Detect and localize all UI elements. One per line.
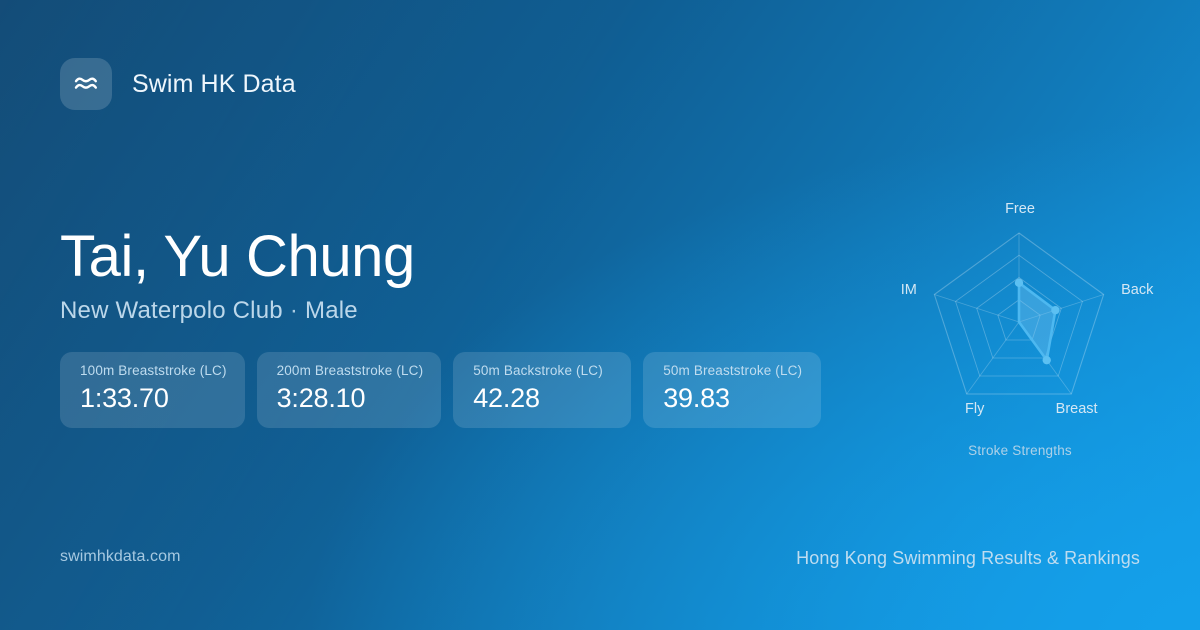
radar-axis-label-im: IM	[870, 282, 917, 298]
athlete-club: New Waterpolo Club	[60, 297, 283, 324]
stat-card-label: 50m Breaststroke (LC)	[663, 363, 803, 378]
stat-card-value: 39.83	[663, 383, 803, 414]
stat-card-label: 50m Backstroke (LC)	[473, 363, 613, 378]
stat-card-label: 100m Breaststroke (LC)	[80, 363, 227, 378]
athlete-gender: Male	[305, 297, 358, 324]
stat-card[interactable]: 50m Breaststroke (LC) 39.83	[643, 352, 821, 428]
stat-card-value: 3:28.10	[277, 383, 424, 414]
radar-axis-label-back: Back	[1121, 282, 1153, 298]
athlete-meta: New Waterpolo Club·Male	[60, 297, 358, 325]
footer-tagline: Hong Kong Swimming Results & Rankings	[796, 548, 1140, 569]
stat-card-list: 100m Breaststroke (LC) 1:33.70 200m Brea…	[60, 352, 821, 428]
stroke-strengths-radar-chart: Free Back Breast Fly IM	[870, 170, 1170, 470]
brand-name: Swim HK Data	[132, 70, 296, 99]
share-card: Swim HK Data Tai, Yu Chung New Waterpolo…	[0, 0, 1200, 630]
meta-separator: ·	[283, 297, 305, 324]
brand-header: Swim HK Data	[60, 58, 296, 110]
stat-card[interactable]: 200m Breaststroke (LC) 3:28.10	[257, 352, 442, 428]
stat-card[interactable]: 50m Backstroke (LC) 42.28	[453, 352, 631, 428]
stat-card[interactable]: 100m Breaststroke (LC) 1:33.70	[60, 352, 245, 428]
stat-card-label: 200m Breaststroke (LC)	[277, 363, 424, 378]
radar-axis-label-breast: Breast	[1056, 401, 1098, 417]
radar-axis-label-free: Free	[870, 201, 1170, 217]
footer-site: swimhkdata.com	[60, 548, 181, 566]
wave-approx-icon	[60, 58, 112, 110]
radar-caption: Stroke Strengths	[870, 443, 1170, 458]
page-title: Tai, Yu Chung	[60, 224, 415, 290]
stat-card-value: 1:33.70	[80, 383, 227, 414]
stat-card-value: 42.28	[473, 383, 613, 414]
radar-axis-label-fly: Fly	[870, 401, 984, 417]
